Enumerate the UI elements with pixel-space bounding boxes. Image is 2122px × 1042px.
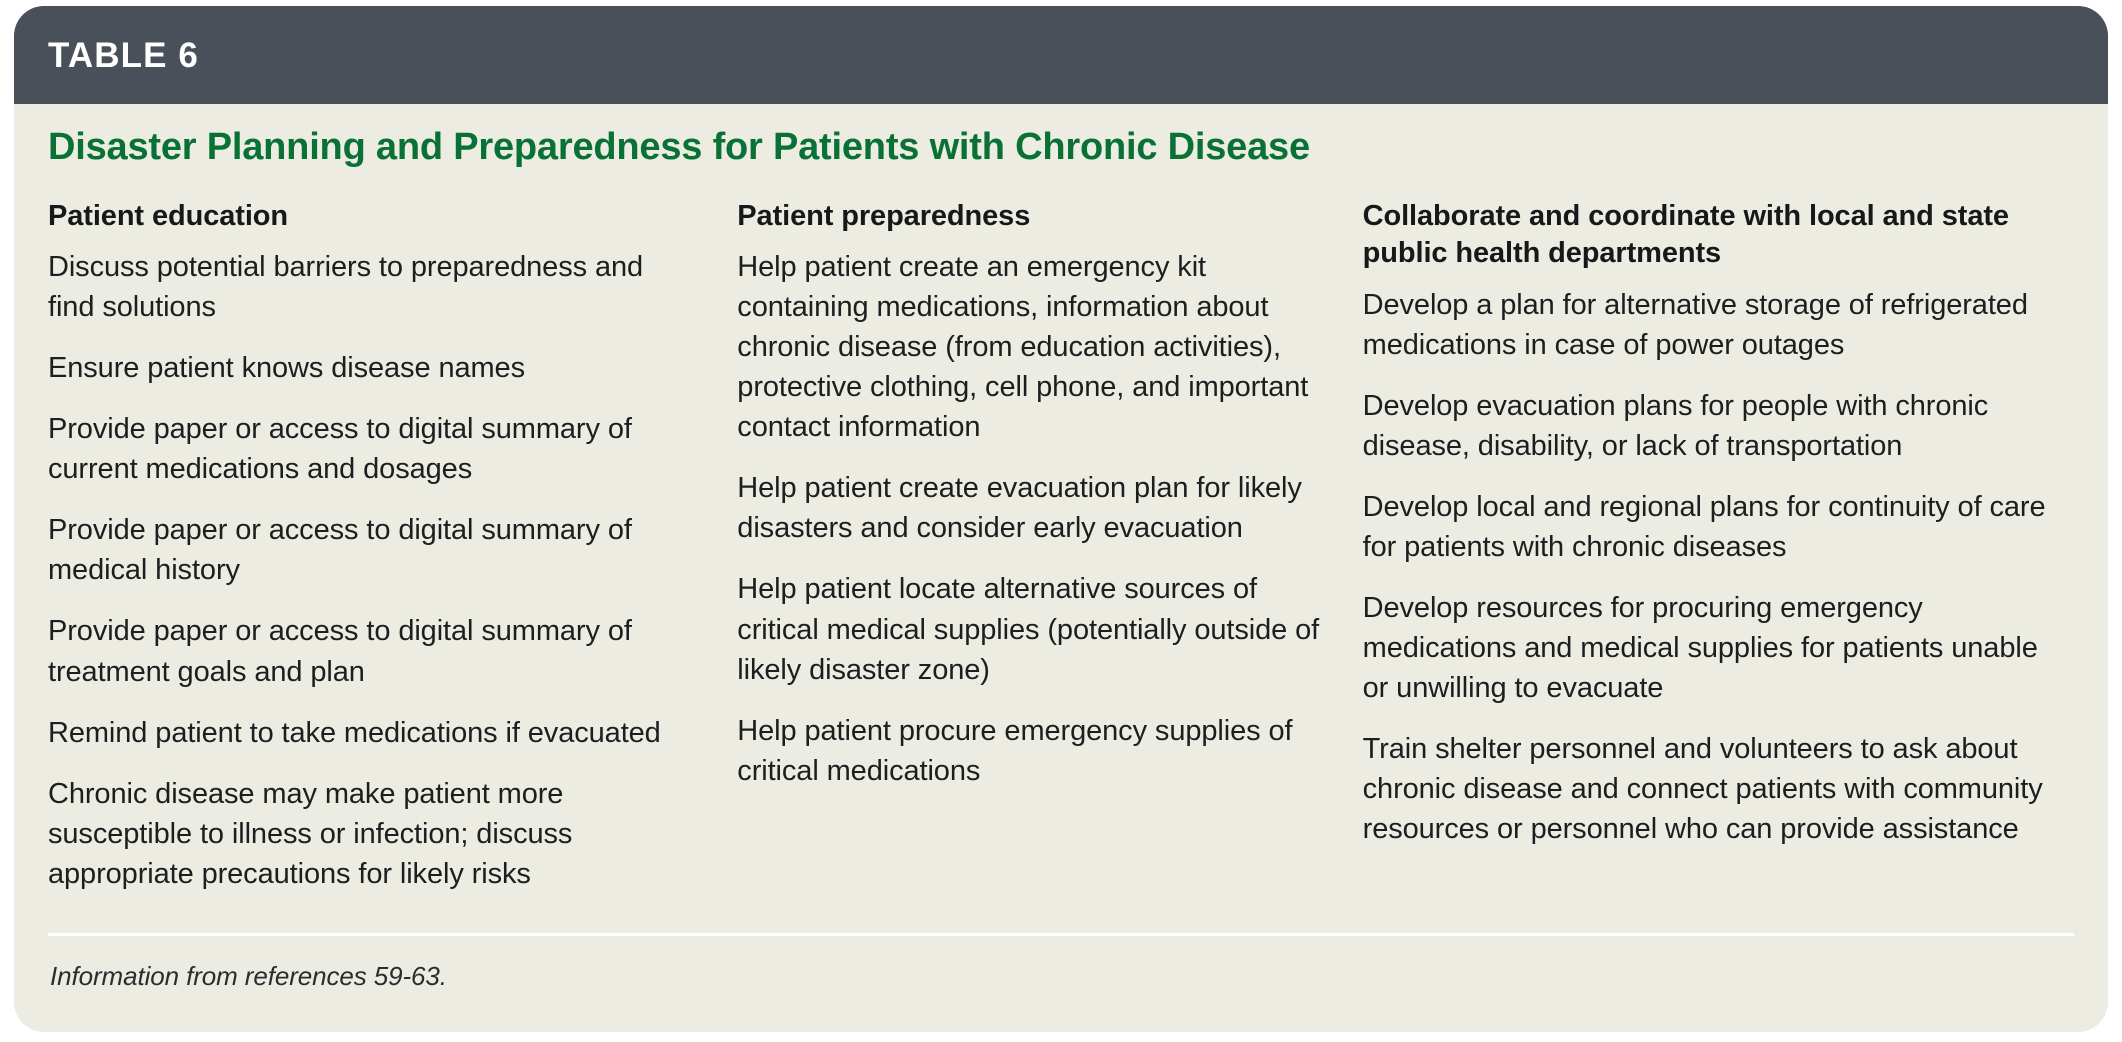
list-item: Help patient create an emergency kit con… [737,247,1322,447]
list-item: Develop a plan for alternative storage o… [1363,285,2068,365]
table-columns: Patient education Discuss potential barr… [48,198,2074,894]
list-item: Remind patient to take medications if ev… [48,713,697,753]
column-item-list: Develop a plan for alternative storage o… [1363,285,2068,849]
list-item: Chronic disease may make patient more su… [48,774,697,894]
column-heading: Patient preparedness [737,198,1322,236]
column-heading: Patient education [48,198,697,236]
table-header-bar: TABLE 6 [14,6,2108,104]
table-column-patient-preparedness: Patient preparedness Help patient create… [737,198,1362,791]
list-item: Develop evacuation plans for people with… [1363,386,2068,466]
table-body: Disaster Planning and Preparedness for P… [14,126,2108,894]
list-item: Train shelter personnel and volunteers t… [1363,729,2068,849]
column-item-list: Discuss potential barriers to preparedne… [48,247,697,893]
table-column-patient-education: Patient education Discuss potential barr… [48,198,737,894]
list-item: Discuss potential barriers to preparedne… [48,247,697,327]
table-title: Disaster Planning and Preparedness for P… [48,126,2074,170]
list-item: Help patient create evacuation plan for … [737,468,1322,548]
list-item: Develop local and regional plans for con… [1363,487,2068,567]
footnote-divider [48,933,2074,936]
list-item: Ensure patient knows disease names [48,348,697,388]
list-item: Help patient locate alternative sources … [737,569,1322,689]
column-heading: Collaborate and coordinate with local an… [1363,198,2068,273]
table-card: TABLE 6 Disaster Planning and Preparedne… [14,6,2108,1032]
list-item: Provide paper or access to digital summa… [48,611,697,691]
table-number-label: TABLE 6 [48,38,199,73]
list-item: Provide paper or access to digital summa… [48,409,697,489]
list-item: Help patient procure emergency supplies … [737,711,1322,791]
footnote-references: Information from references 59-63. [50,961,447,992]
list-item: Develop resources for procuring emergenc… [1363,588,2068,708]
list-item: Provide paper or access to digital summa… [48,510,697,590]
column-item-list: Help patient create an emergency kit con… [737,247,1322,790]
table-column-collaborate-coordinate: Collaborate and coordinate with local an… [1363,198,2074,850]
